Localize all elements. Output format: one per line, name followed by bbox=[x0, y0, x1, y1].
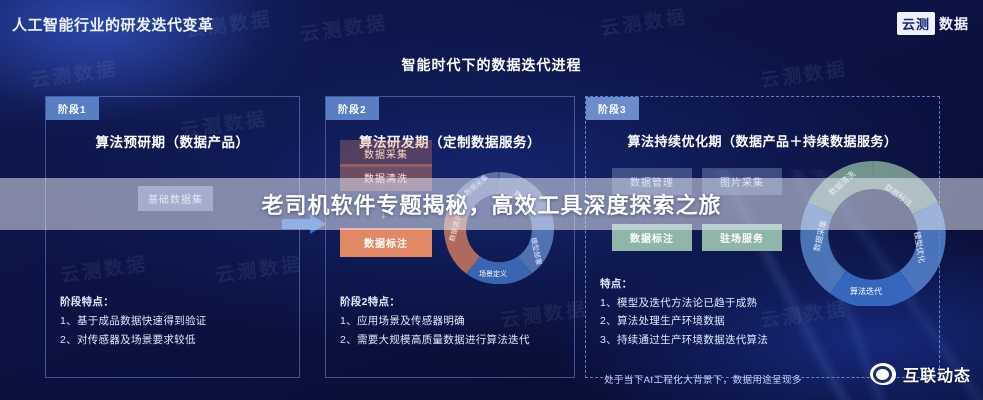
page-title: 人工智能行业的研发迭代变革 bbox=[12, 14, 214, 35]
caption-overlay: 老司机软件专题揭秘，高效工具深度探索之旅 bbox=[0, 178, 983, 230]
features-title: 阶段特点： bbox=[60, 293, 207, 311]
stage-features-3: 特点： 1、模型及迭代方法论已趋于成熟 2、算法处理生产环境数据 3、持续通过生… bbox=[600, 275, 768, 350]
stage-footnote-3: 处于当下AI工程化大背景下，数据用途呈现多 bbox=[604, 372, 802, 386]
stage-features-1: 阶段特点： 1、基于成品数据快速得到验证 2、对传感器及场景要求较低 bbox=[60, 293, 207, 349]
brand-logo: 云测 数据 bbox=[897, 12, 969, 35]
stage-features-2: 阶段2特点： 1、应用场景及传感器明确 2、需要大规模高质量数据进行算法迭代 bbox=[340, 293, 530, 349]
weibo-watermark: 互联动态 bbox=[870, 362, 971, 386]
stage-badge-2: 阶段2 bbox=[326, 97, 379, 120]
ring-label: 算法迭代 bbox=[850, 286, 882, 296]
pipeline-step-collect: 数据采集 bbox=[340, 140, 432, 167]
feature-item: 2、需要大规模高质量数据进行算法迭代 bbox=[340, 331, 530, 349]
stage-panel-1: 阶段1 算法预研期（数据产品） 阶段特点： 1、基于成品数据快速得到验证 2、对… bbox=[45, 96, 300, 378]
feature-item: 1、模型及迭代方法论已趋于成熟 bbox=[600, 294, 768, 312]
weibo-icon bbox=[870, 363, 896, 385]
features-title: 阶段2特点： bbox=[340, 293, 530, 311]
feature-item: 3、持续通过生产环境数据迭代算法 bbox=[600, 331, 768, 349]
feature-item: 1、基于成品数据快速得到验证 bbox=[60, 312, 207, 330]
watermark: 云测数据 bbox=[599, 2, 690, 41]
feature-item: 2、对传感器及场景要求较低 bbox=[60, 331, 207, 349]
infographic-canvas: 云测数据 云测数据 云测数据 云测数据 云测数据 云测数据 云测数据 云测数据 … bbox=[0, 0, 983, 400]
stage-badge-1: 阶段1 bbox=[46, 97, 99, 120]
chart-title: 智能时代下的数据迭代进程 bbox=[0, 55, 983, 75]
brand-text: 数据 bbox=[939, 14, 969, 34]
watermark: 云测数据 bbox=[299, 8, 390, 47]
stage-badge-3: 阶段3 bbox=[586, 97, 639, 120]
pipeline-step-annotate: 数据标注 bbox=[340, 228, 432, 257]
stage-heading-3: 算法持续优化期（数据产品＋持续数据服务） bbox=[586, 131, 939, 150]
brand-mark: 云测 bbox=[897, 12, 935, 35]
feature-item: 1、应用场景及传感器明确 bbox=[340, 312, 530, 330]
weibo-account-name: 互联动态 bbox=[903, 362, 971, 386]
ring-label: 场景定义 bbox=[479, 269, 507, 278]
feature-item: 2、算法处理生产环境数据 bbox=[600, 312, 768, 330]
features-title: 特点： bbox=[600, 275, 768, 293]
caption-text: 老司机软件专题揭秘，高效工具深度探索之旅 bbox=[261, 188, 721, 220]
stage-heading-1: 算法预研期（数据产品） bbox=[46, 131, 299, 151]
